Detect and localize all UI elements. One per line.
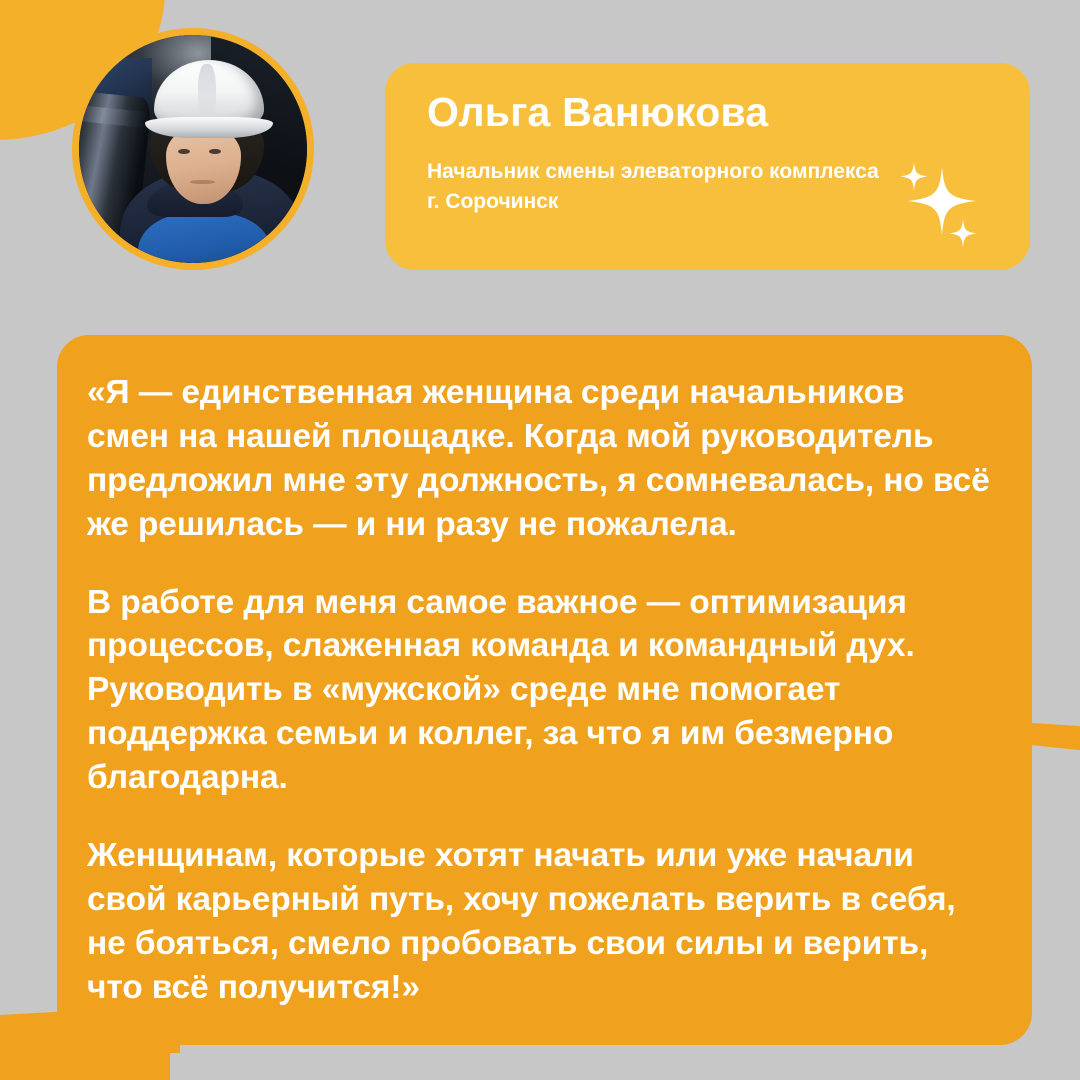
photo-mouth	[190, 180, 216, 184]
avatar-photo	[79, 35, 307, 263]
avatar	[72, 28, 314, 270]
quote-paragraph: В работе для меня самое важное — оптимиз…	[87, 581, 992, 800]
photo-eye-right	[209, 149, 221, 154]
photo-jacket-blue	[138, 213, 270, 263]
person-city: г. Сорочинск	[427, 187, 990, 217]
photo-eye-left	[178, 149, 190, 154]
corner-decoration-bottom-left-block	[0, 1040, 170, 1080]
quote-card: «Я — единственная женщина среди начальни…	[57, 335, 1032, 1045]
poster-canvas: Ольга Ванюкова Начальник смены элеваторн…	[0, 0, 1080, 1080]
quote-paragraph: Женщинам, которые хотят начать или уже н…	[87, 834, 992, 1010]
person-name: Ольга Ванюкова	[427, 90, 990, 135]
profile-header-card: Ольга Ванюкова Начальник смены элеваторн…	[385, 63, 1030, 270]
quote-paragraph: «Я — единственная женщина среди начальни…	[87, 371, 992, 547]
person-role: Начальник смены элеваторного комплекса	[427, 157, 897, 187]
photo-hard-hat-brim	[145, 117, 273, 138]
